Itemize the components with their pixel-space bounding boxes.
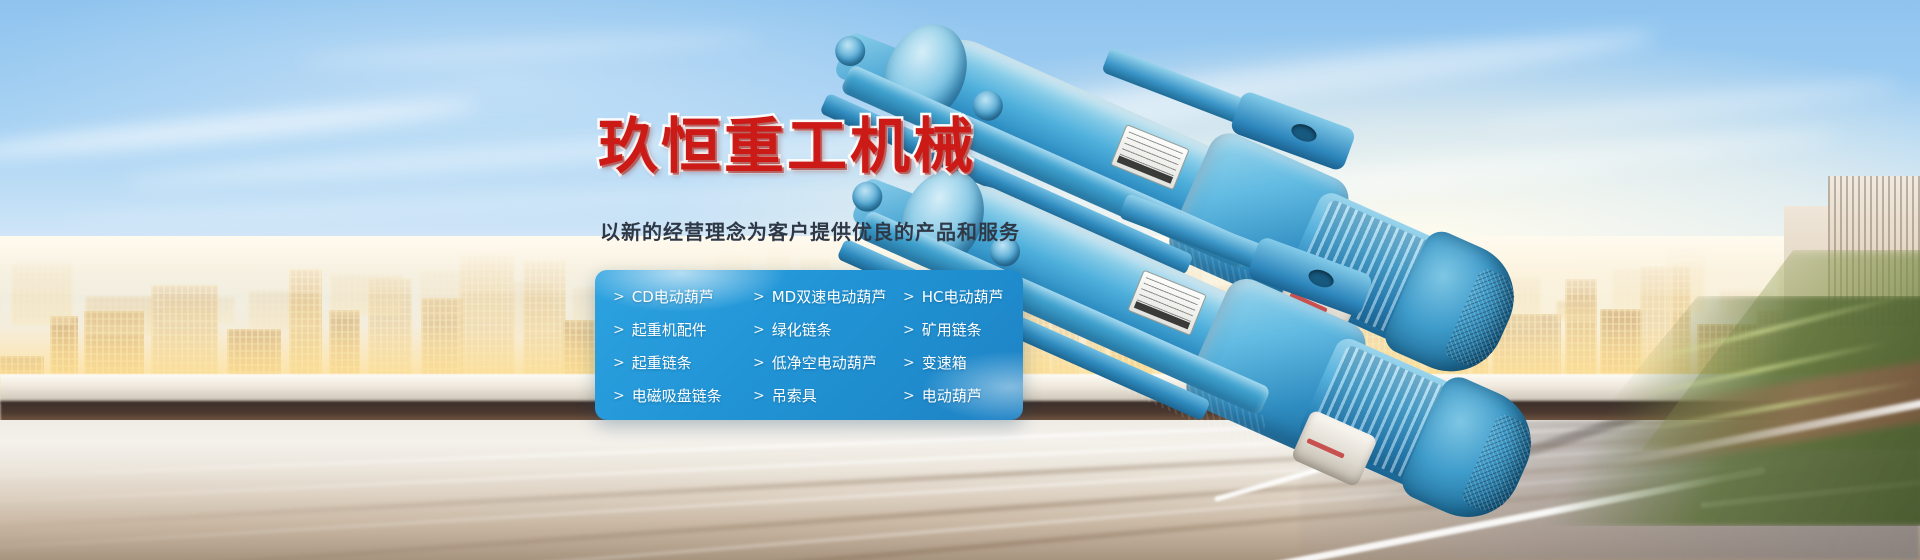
- product-link-label: 绿化链条: [772, 319, 832, 340]
- product-link-1[interactable]: >CD电动葫芦: [613, 286, 753, 307]
- chevron-right-icon: >: [753, 323, 765, 337]
- product-link-label: CD电动葫芦: [632, 286, 714, 307]
- product-link-9[interactable]: >变速箱: [903, 352, 1023, 373]
- chevron-right-icon: >: [613, 290, 625, 304]
- product-link-label: 起重机配件: [632, 319, 707, 340]
- product-link-box: >CD电动葫芦>MD双速电动葫芦>HC电动葫芦>起重机配件>绿化链条>矿用链条>…: [595, 270, 1023, 420]
- product-link-label: 变速箱: [922, 352, 967, 373]
- chevron-right-icon: >: [903, 389, 915, 403]
- product-link-grid: >CD电动葫芦>MD双速电动葫芦>HC电动葫芦>起重机配件>绿化链条>矿用链条>…: [595, 270, 1023, 420]
- product-link-label: HC电动葫芦: [922, 286, 1004, 307]
- product-link-label: 低净空电动葫芦: [772, 352, 877, 373]
- product-link-label: 矿用链条: [922, 319, 982, 340]
- banner-content: 玖恒重工机械 以新的经营理念为客户提供优良的产品和服务 >CD电动葫芦>MD双速…: [0, 0, 1920, 560]
- product-link-3[interactable]: >HC电动葫芦: [903, 286, 1023, 307]
- product-link-2[interactable]: >MD双速电动葫芦: [753, 286, 903, 307]
- chevron-right-icon: >: [753, 389, 765, 403]
- product-link-5[interactable]: >绿化链条: [753, 319, 903, 340]
- product-link-6[interactable]: >矿用链条: [903, 319, 1023, 340]
- product-link-label: MD双速电动葫芦: [772, 286, 887, 307]
- product-link-11[interactable]: >吊索具: [753, 385, 903, 406]
- chevron-right-icon: >: [753, 356, 765, 370]
- product-link-7[interactable]: >起重链条: [613, 352, 753, 373]
- hero-banner: 玖恒重工机械 以新的经营理念为客户提供优良的产品和服务 >CD电动葫芦>MD双速…: [0, 0, 1920, 560]
- product-link-label: 电动葫芦: [922, 385, 982, 406]
- product-link-12[interactable]: >电动葫芦: [903, 385, 1023, 406]
- chevron-right-icon: >: [903, 356, 915, 370]
- product-link-10[interactable]: >电磁吸盘链条: [613, 385, 753, 406]
- product-link-8[interactable]: >低净空电动葫芦: [753, 352, 903, 373]
- product-link-4[interactable]: >起重机配件: [613, 319, 753, 340]
- chevron-right-icon: >: [903, 290, 915, 304]
- banner-subtitle: 以新的经营理念为客户提供优良的产品和服务: [600, 216, 1020, 245]
- banner-title: 玖恒重工机械: [598, 112, 976, 182]
- chevron-right-icon: >: [613, 356, 625, 370]
- product-link-label: 电磁吸盘链条: [632, 385, 722, 406]
- chevron-right-icon: >: [753, 290, 765, 304]
- chevron-right-icon: >: [613, 323, 625, 337]
- product-link-label: 起重链条: [632, 352, 692, 373]
- product-link-label: 吊索具: [772, 385, 817, 406]
- chevron-right-icon: >: [903, 323, 915, 337]
- chevron-right-icon: >: [613, 389, 625, 403]
